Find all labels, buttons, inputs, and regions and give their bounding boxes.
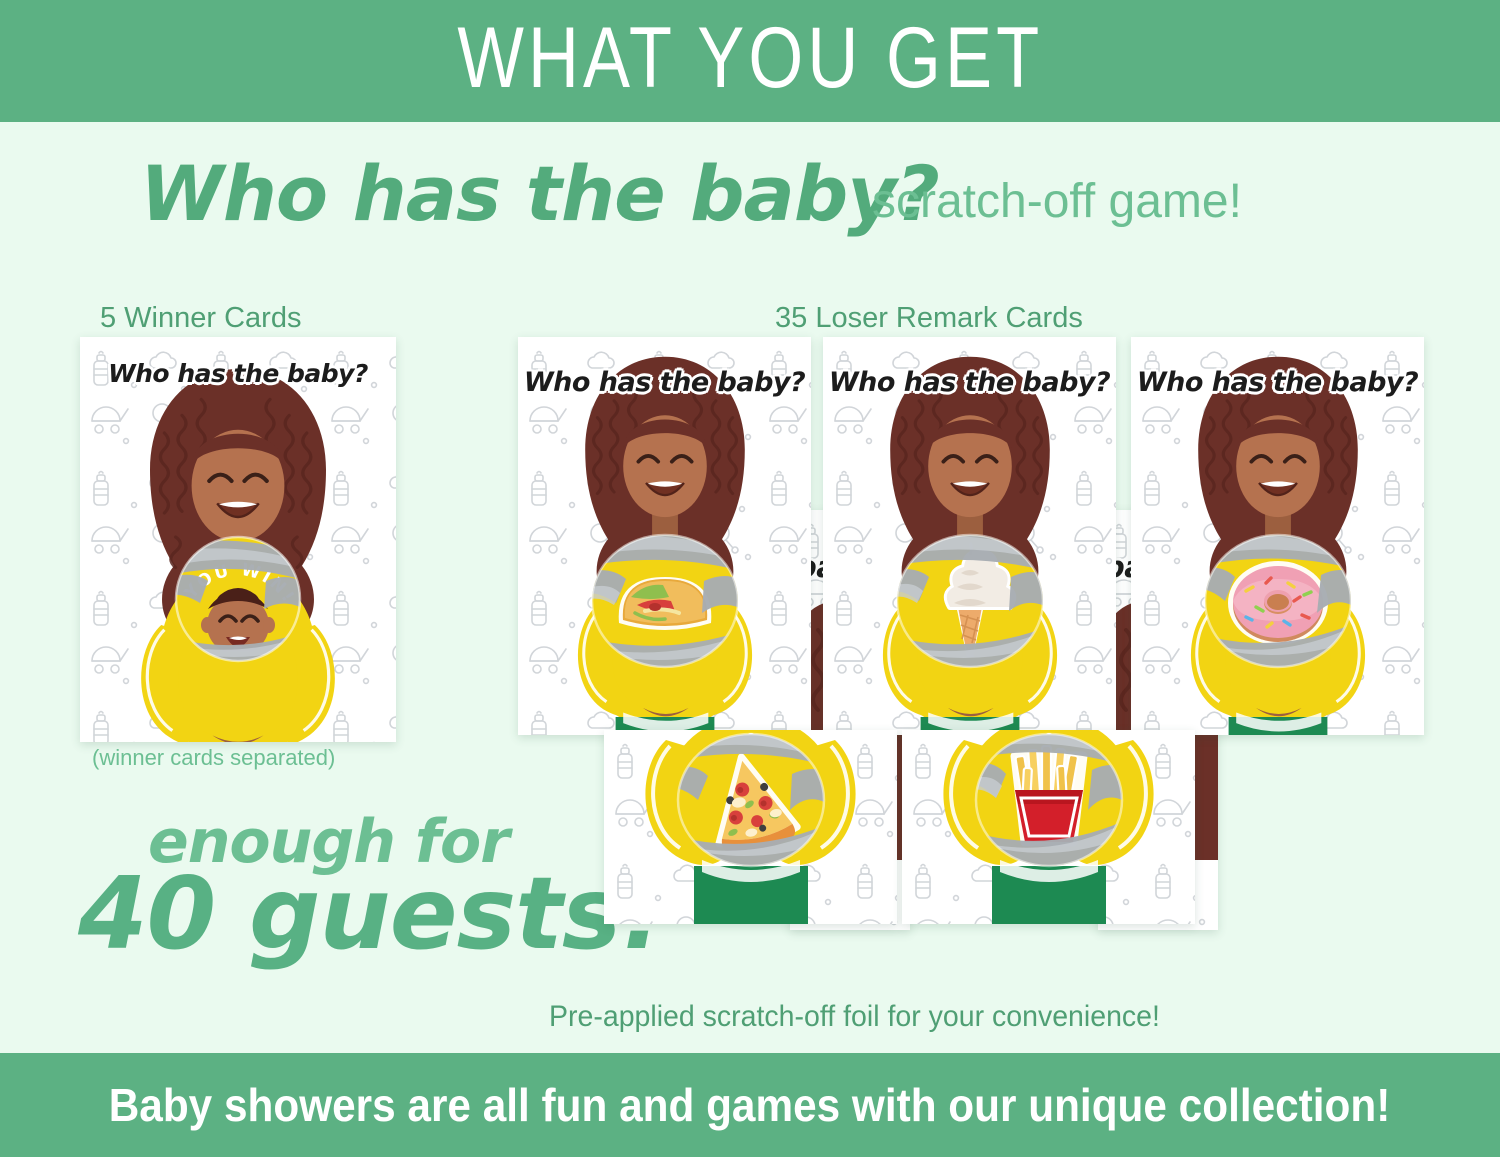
card-title: Who has the baby? <box>518 367 811 398</box>
card-title: Who has the baby? <box>80 359 396 388</box>
card-title: Who has the baby? <box>823 367 1116 398</box>
winner-card-art: YOU WIN! <box>80 337 396 742</box>
guest-count-promo: enough for 40 guests! <box>60 812 560 972</box>
headline-game-type: scratch-off game! <box>872 174 1242 229</box>
headline-row: Who has the baby? scratch-off game! <box>0 150 1500 260</box>
loser-cards-label: 35 Loser Remark Cards <box>775 302 1083 335</box>
foil-note: Pre-applied scratch-off foil for your co… <box>549 1000 1160 1034</box>
page-title: WHAT YOU GET <box>457 15 1043 107</box>
winner-card[interactable]: YOU WIN! <box>80 337 396 742</box>
loser-card-fries[interactable] <box>902 730 1195 924</box>
loser-card-icecream[interactable]: Who has the baby? <box>823 337 1116 735</box>
loser-card-donut[interactable]: Who has the baby? <box>1131 337 1424 735</box>
product-infographic: WHAT YOU GET Who has the baby? scratch-o… <box>0 0 1500 1157</box>
loser-card-taco[interactable]: Who has the baby? <box>518 337 811 735</box>
guest-count-text: 40 guests! <box>78 864 665 964</box>
top-banner: WHAT YOU GET <box>0 0 1500 122</box>
headline-product-name: Who has the baby? <box>140 156 939 232</box>
loser-card-pizza-art <box>604 730 897 924</box>
card-title: Who has the baby? <box>1131 367 1424 398</box>
winner-cards-label: 5 Winner Cards <box>100 302 301 335</box>
bottom-banner: Baby showers are all fun and games with … <box>0 1053 1500 1157</box>
loser-card-pizza[interactable] <box>604 730 897 924</box>
loser-card-fries-art <box>902 730 1195 924</box>
winner-cards-caption: (winner cards separated) <box>92 745 335 771</box>
bottom-banner-text: Baby showers are all fun and games with … <box>109 1082 1391 1128</box>
